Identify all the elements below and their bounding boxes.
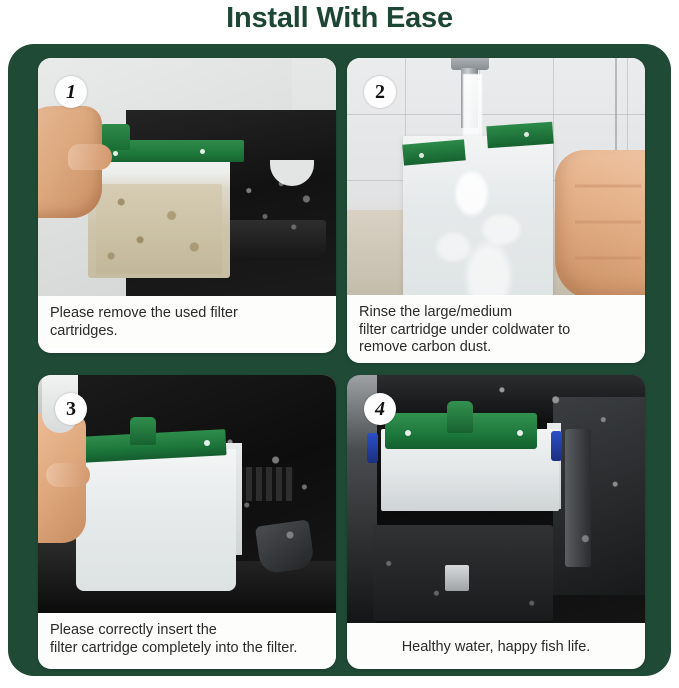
clip-hole-left xyxy=(419,153,424,158)
step-card-2[interactable]: 2 Rinse the large/medium filter cartridg… xyxy=(347,58,645,363)
used-filter-cartridge xyxy=(88,150,230,278)
intake-pipe xyxy=(565,429,591,567)
step-4-photo: 4 xyxy=(347,375,645,623)
thumb xyxy=(46,463,90,487)
step-3-caption: Please correctly insert the filter cartr… xyxy=(38,613,336,665)
step-card-3[interactable]: 3 Please correctly insert the filter car… xyxy=(38,375,336,669)
chamber-plate xyxy=(445,565,469,591)
clip-hole-right xyxy=(524,132,529,137)
clip-hole-left xyxy=(405,430,411,436)
clip-hole-right xyxy=(200,149,205,154)
step-4-caption: Healthy water, happy fish life. xyxy=(347,623,645,665)
step-2-photo: 2 xyxy=(347,58,645,295)
clip-hole-right xyxy=(204,440,210,446)
step-badge-4: 4 xyxy=(364,393,396,425)
blue-guide-left xyxy=(367,433,378,463)
steps-grid: 1 Please remove the used filter cartridg… xyxy=(38,58,645,669)
step-1-photo: 1 xyxy=(38,58,336,296)
step-badge-3: 3 xyxy=(55,393,87,425)
step-card-4[interactable]: 4 Healthy water, happy fish life. xyxy=(347,375,645,669)
install-guide-infographic: Install With Ease 1 xyxy=(0,0,679,688)
step-card-1[interactable]: 1 Please remove the used filter cartridg… xyxy=(38,58,336,353)
step-1-caption: Please remove the used filter cartridges… xyxy=(38,296,336,348)
page-title: Install With Ease xyxy=(0,1,679,35)
carbon-media xyxy=(96,184,222,274)
finger-creases xyxy=(575,162,641,292)
clip-hole-right xyxy=(517,430,523,436)
thumb xyxy=(68,144,112,170)
green-clip-tab xyxy=(447,401,473,433)
step-3-photo: 3 xyxy=(38,375,336,613)
green-clip-tab xyxy=(130,417,156,445)
step-badge-1: 1 xyxy=(55,76,87,108)
clean-filter-cartridge xyxy=(76,449,236,591)
blue-guide-right xyxy=(551,431,562,461)
water-splash xyxy=(417,168,547,295)
green-clip-right xyxy=(486,122,553,149)
step-badge-2: 2 xyxy=(364,76,396,108)
step-2-caption: Rinse the large/medium filter cartridge … xyxy=(347,295,645,363)
clip-hole-left xyxy=(113,151,118,156)
water-droplets xyxy=(238,178,328,248)
